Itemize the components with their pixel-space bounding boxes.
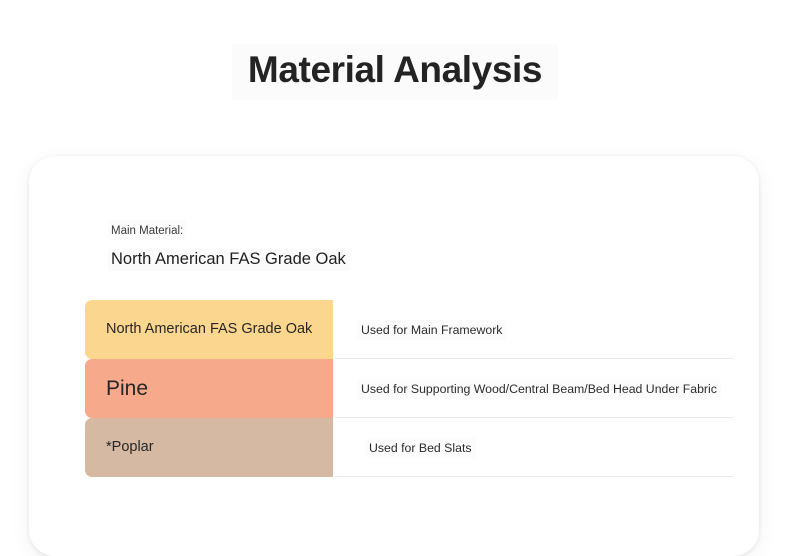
material-usage-highlight: Used for Supporting Wood/Central Beam/Be… [357,379,721,399]
material-usage-cell: Used for Bed Slats [333,418,759,477]
main-material-value-highlight: North American FAS Grade Oak [108,249,350,271]
main-material-value-row: North American FAS Grade Oak [108,240,350,271]
material-swatch: *Poplar [85,418,333,477]
material-analysis-card: Main Material: North American FAS Grade … [29,156,759,556]
material-usage: Used for Supporting Wood/Central Beam/Be… [361,382,717,396]
main-material-label: Main Material: [111,225,183,237]
material-usage-highlight: Used for Main Framework [357,320,506,340]
material-swatch: North American FAS Grade Oak [85,300,333,359]
row-divider [335,476,734,477]
material-row[interactable]: North American FAS Grade Oak Used for Ma… [29,300,759,359]
main-material-value: North American FAS Grade Oak [111,250,346,268]
material-row[interactable]: *Poplar Used for Bed Slats [29,418,759,477]
material-rows-list: North American FAS Grade Oak Used for Ma… [29,300,759,477]
material-name: Pine [106,377,148,401]
material-usage-cell: Used for Main Framework [333,300,759,359]
main-material-label-highlight: Main Material: [108,220,186,240]
page-title: Material Analysis [248,49,542,90]
material-usage-highlight: Used for Bed Slats [365,438,476,458]
material-name: North American FAS Grade Oak [106,321,312,338]
material-usage: Used for Main Framework [361,323,502,337]
material-row[interactable]: Pine Used for Supporting Wood/Central Be… [29,359,759,418]
material-usage-cell: Used for Supporting Wood/Central Beam/Be… [333,359,759,418]
page-title-container: Material Analysis [0,44,790,100]
main-material-block: Main Material: North American FAS Grade … [108,220,350,271]
material-usage: Used for Bed Slats [369,441,472,455]
main-material-label-row: Main Material: [108,220,350,240]
page-title-highlight: Material Analysis [232,44,558,100]
material-name: *Poplar [106,439,154,456]
material-swatch: Pine [85,359,333,418]
